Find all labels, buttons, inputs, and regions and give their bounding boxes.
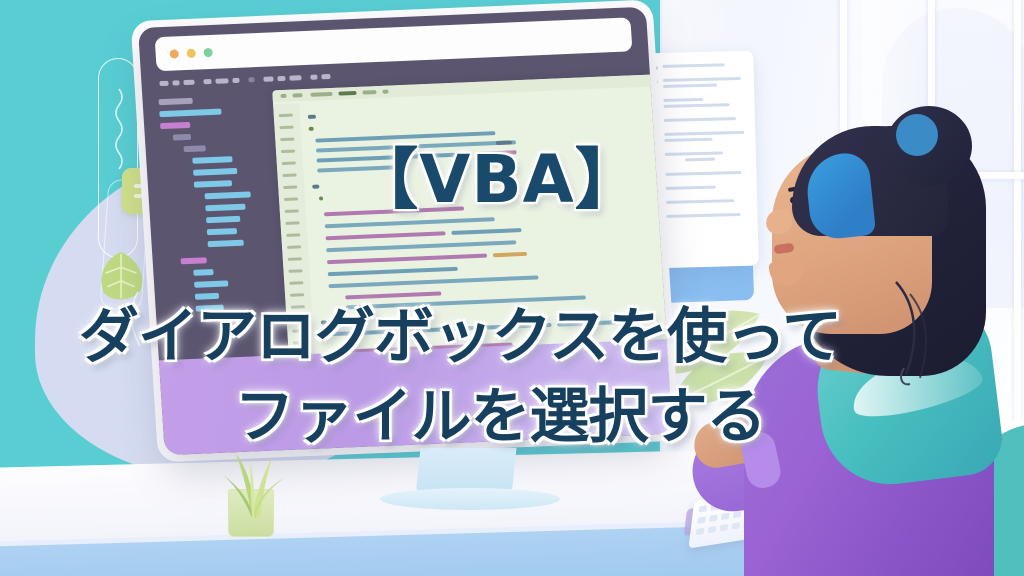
desktop-monitor	[138, 7, 673, 455]
list-item	[654, 63, 744, 68]
window-minimize-dot[interactable]	[186, 49, 196, 58]
window-maximize-dot[interactable]	[203, 48, 213, 57]
monitor-screen	[138, 7, 673, 455]
window-close-dot[interactable]	[169, 49, 179, 58]
browser-title-bar	[155, 17, 633, 71]
file-tree	[159, 94, 291, 319]
desk-plant-leaves	[214, 448, 290, 518]
editor-menubar	[159, 72, 389, 89]
hair-bun-blue-streak	[896, 114, 938, 156]
hair-wisps	[876, 278, 966, 388]
woman-at-desk	[700, 92, 1024, 576]
monitor-stand-base	[380, 488, 560, 510]
decor-squiggle-icon	[110, 85, 128, 180]
thumbnail-canvas: 【VBA】 ダイアログボックスを使って ファイルを選択する	[0, 0, 1024, 576]
list-item	[654, 77, 744, 88]
